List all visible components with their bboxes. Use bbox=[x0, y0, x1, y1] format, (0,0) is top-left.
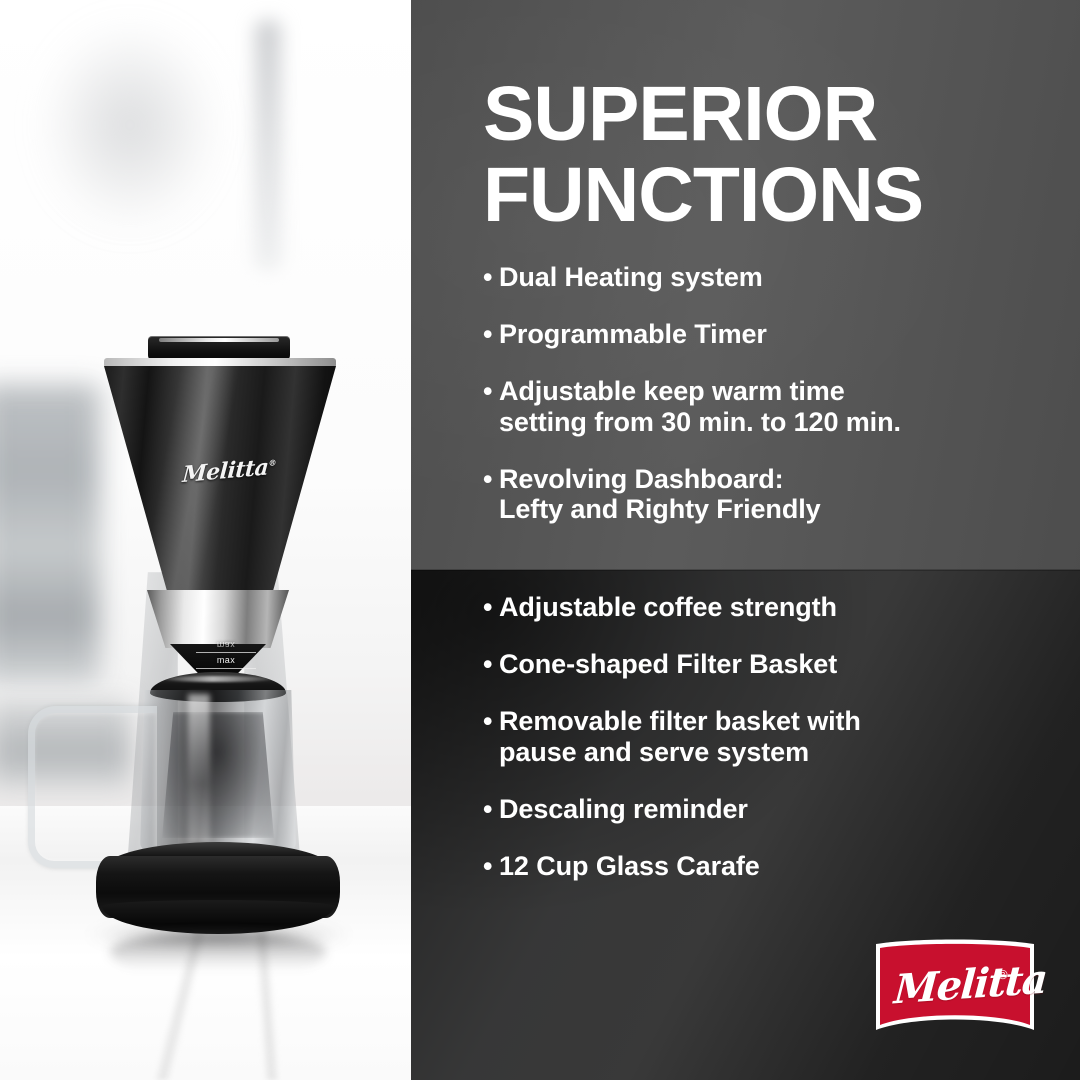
panel-divider bbox=[411, 569, 1080, 571]
carafe-max-marking-upper: max bbox=[198, 640, 254, 650]
list-item: • Adjustable coffee strength bbox=[483, 592, 1063, 622]
bullet-icon: • bbox=[483, 851, 498, 881]
list-item: • Revolving Dashboard: Lefty and Righty … bbox=[483, 464, 1063, 524]
list-item-label: 12 Cup Glass Carafe bbox=[499, 851, 1063, 881]
list-item-label: Programmable Timer bbox=[499, 319, 1063, 349]
list-item: • 12 Cup Glass Carafe bbox=[483, 851, 1063, 881]
list-item: • Descaling reminder bbox=[483, 794, 1063, 824]
list-item-label: Removable filter basket with pause and s… bbox=[499, 706, 1063, 766]
carafe-handle bbox=[28, 706, 157, 868]
list-item: • Programmable Timer bbox=[483, 319, 1063, 349]
list-item-label: Adjustable coffee strength bbox=[499, 592, 1063, 622]
bullet-icon: • bbox=[483, 592, 498, 622]
carafe-level-rule-lower bbox=[196, 668, 256, 669]
feature-list-group-2: • Adjustable coffee strength • Cone-shap… bbox=[483, 592, 1063, 908]
features-text-panel: SUPERIOR FUNCTIONS • Dual Heating system… bbox=[411, 0, 1080, 1080]
carafe-specular-highlight bbox=[188, 694, 210, 844]
carafe-max-marking-lower: max bbox=[198, 655, 254, 665]
title-line-2: FUNCTIONS bbox=[483, 157, 1043, 234]
bullet-icon: • bbox=[483, 464, 498, 494]
feature-list-group-1: • Dual Heating system • Programmable Tim… bbox=[483, 262, 1063, 551]
list-item-label: Adjustable keep warm time setting from 3… bbox=[499, 376, 1063, 436]
product-feature-graphic: Melitta® max max bbox=[0, 0, 1080, 1080]
carafe-interior-shadow bbox=[162, 712, 274, 838]
logo-wordmark: Melitta bbox=[892, 958, 1017, 1014]
base-reflection bbox=[110, 932, 326, 980]
list-item: • Removable filter basket with pause and… bbox=[483, 706, 1063, 766]
list-item-label: Descaling reminder bbox=[499, 794, 1063, 824]
melitta-brand-logo: Melitta ® bbox=[872, 938, 1038, 1040]
list-item: • Cone-shaped Filter Basket bbox=[483, 649, 1063, 679]
list-item: • Dual Heating system bbox=[483, 262, 1063, 292]
product-photo-panel: Melitta® max max bbox=[0, 0, 411, 1080]
bullet-icon: • bbox=[483, 649, 498, 679]
carafe-lid-highlight bbox=[164, 676, 272, 682]
list-item-label: Revolving Dashboard: Lefty and Righty Fr… bbox=[499, 464, 1063, 524]
carafe-level-rule-upper bbox=[196, 652, 256, 653]
logo-registered-mark: ® bbox=[998, 968, 1008, 981]
list-item: • Adjustable keep warm time setting from… bbox=[483, 376, 1063, 436]
bullet-icon: • bbox=[483, 376, 498, 406]
bullet-icon: • bbox=[483, 794, 498, 824]
list-item-label: Cone-shaped Filter Basket bbox=[499, 649, 1063, 679]
bullet-icon: • bbox=[483, 262, 498, 292]
bullet-icon: • bbox=[483, 319, 498, 349]
coffee-maker-product-image: Melitta® max max bbox=[0, 0, 411, 1080]
bullet-icon: • bbox=[483, 706, 498, 736]
product-melitta-registered-mark: ® bbox=[268, 457, 276, 468]
list-item-label: Dual Heating system bbox=[499, 262, 1063, 292]
lid-chrome-accent bbox=[159, 338, 279, 342]
page-title: SUPERIOR FUNCTIONS bbox=[483, 76, 1043, 238]
title-line-1: SUPERIOR bbox=[483, 76, 1043, 153]
